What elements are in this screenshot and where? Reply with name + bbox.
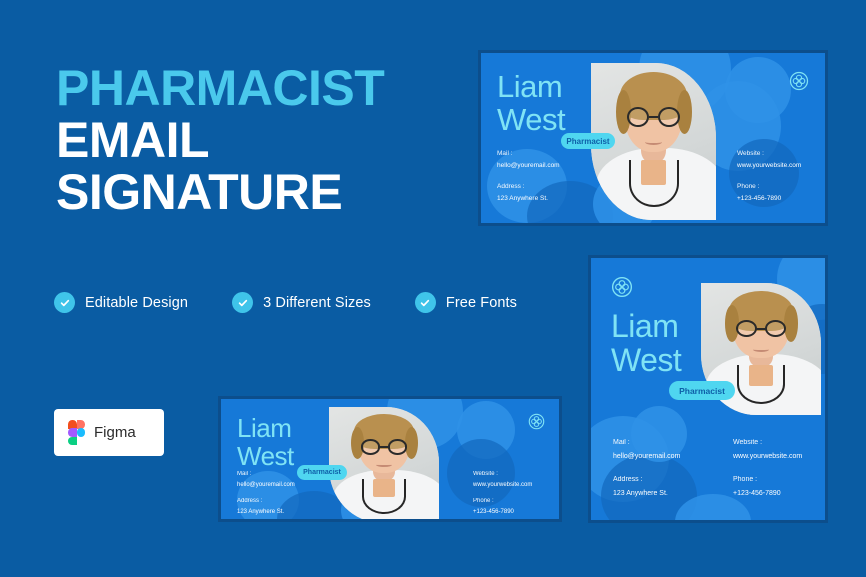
field-label: Website : xyxy=(737,148,801,160)
field-value: www.yourwebsite.com xyxy=(733,450,802,464)
field-phone: Phone : +123-456-7890 xyxy=(473,496,514,519)
last-name: West xyxy=(611,342,681,378)
field-value: 123 Anywhere St. xyxy=(237,507,284,518)
check-circle-icon xyxy=(232,292,253,313)
field-value: www.yourwebsite.com xyxy=(473,480,532,491)
field-address: Address : 123 Anywhere St. xyxy=(497,181,548,206)
field-label: Website : xyxy=(733,436,802,450)
pinwheel-circle-logo-icon xyxy=(528,413,545,430)
field-address: Address : 123 Anywhere St. xyxy=(613,473,668,501)
title-line-pharmacist: PHARMACIST xyxy=(56,62,476,114)
pinwheel-circle-logo-icon xyxy=(611,276,633,298)
field-value: +123-456-7890 xyxy=(733,487,781,501)
field-label: Address : xyxy=(497,181,548,193)
first-name: Liam xyxy=(497,69,562,104)
field-value: hello@youremail.com xyxy=(237,480,295,491)
field-value: 123 Anywhere St. xyxy=(613,487,668,501)
field-mail: Mail : hello@youremail.com xyxy=(497,148,560,173)
feature-label: Free Fonts xyxy=(446,295,517,311)
feature-label: Editable Design xyxy=(85,295,188,311)
field-label: Phone : xyxy=(473,496,514,507)
field-value: www.yourwebsite.com xyxy=(737,160,801,172)
field-value: hello@youremail.com xyxy=(497,160,560,172)
field-website: Website : www.yourwebsite.com xyxy=(473,469,532,492)
last-name: West xyxy=(237,441,294,471)
check-circle-icon xyxy=(54,292,75,313)
feature-item-free-fonts: Free Fonts xyxy=(415,292,517,313)
field-website: Website : www.yourwebsite.com xyxy=(733,436,802,464)
figma-badge: Figma xyxy=(54,409,164,456)
field-label: Website : xyxy=(473,469,532,480)
role-badge: Pharmacist xyxy=(561,133,615,149)
last-name: West xyxy=(497,102,565,137)
first-name: Liam xyxy=(611,308,678,344)
signature-name: Liam West xyxy=(611,310,681,378)
check-circle-icon xyxy=(415,292,436,313)
title-line-email: EMAIL xyxy=(56,114,476,166)
field-value: 123 Anywhere St. xyxy=(497,193,548,205)
field-label: Phone : xyxy=(737,181,781,193)
field-phone: Phone : +123-456-7890 xyxy=(733,473,781,501)
feature-list: Editable Design 3 Different Sizes Free F… xyxy=(54,292,517,313)
card-horizontal-large[interactable]: Liam West Pharmacist Mail : hello@yourem… xyxy=(478,50,828,226)
signature-name: Liam West xyxy=(497,71,565,137)
field-value: hello@youremail.com xyxy=(613,450,680,464)
field-value: +123-456-7890 xyxy=(473,507,514,518)
field-label: Address : xyxy=(237,496,284,507)
field-label: Mail : xyxy=(497,148,560,160)
page-title: PHARMACIST EMAIL SIGNATURE xyxy=(56,62,476,218)
card-portrait[interactable]: Liam West Pharmacist Mail : hello@yourem… xyxy=(588,255,828,523)
field-label: Phone : xyxy=(733,473,781,487)
feature-item-sizes: 3 Different Sizes xyxy=(232,292,371,313)
field-website: Website : www.yourwebsite.com xyxy=(737,148,801,173)
field-phone: Phone : +123-456-7890 xyxy=(737,181,781,206)
field-mail: Mail : hello@youremail.com xyxy=(613,436,680,464)
avatar xyxy=(329,407,439,522)
signature-name: Liam West xyxy=(237,415,294,470)
role-badge: Pharmacist xyxy=(669,381,735,400)
feature-item-editable-design: Editable Design xyxy=(54,292,188,313)
field-value: +123-456-7890 xyxy=(737,193,781,205)
field-label: Mail : xyxy=(613,436,680,450)
feature-label: 3 Different Sizes xyxy=(263,295,371,311)
field-mail: Mail : hello@youremail.com xyxy=(237,469,295,492)
title-line-signature: SIGNATURE xyxy=(56,166,476,218)
figma-logo-icon xyxy=(68,420,85,445)
pinwheel-circle-logo-icon xyxy=(789,71,809,91)
field-label: Address : xyxy=(613,473,668,487)
field-label: Mail : xyxy=(237,469,295,480)
first-name: Liam xyxy=(237,413,291,443)
role-badge: Pharmacist xyxy=(297,465,347,480)
field-address: Address : 123 Anywhere St. xyxy=(237,496,284,519)
card-horizontal-small[interactable]: Liam West Pharmacist Mail : hello@yourem… xyxy=(218,396,562,522)
figma-label: Figma xyxy=(94,424,136,441)
